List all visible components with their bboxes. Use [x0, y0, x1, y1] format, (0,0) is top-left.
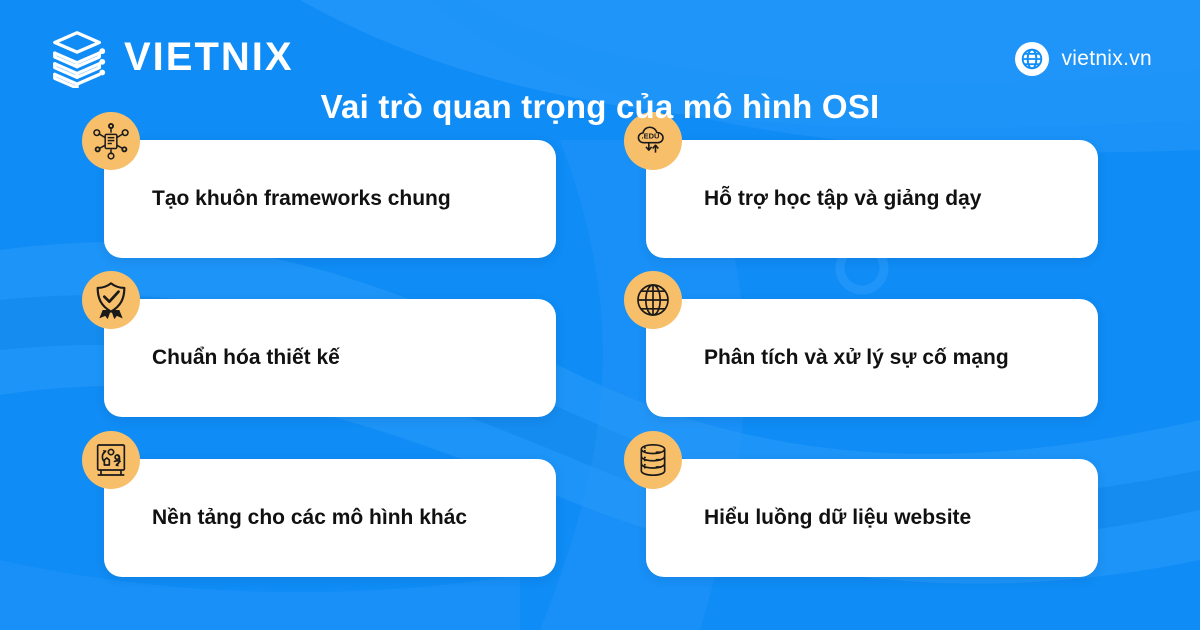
card-education[interactable]: .EDU Hỗ trợ học tập và giảng dạy: [646, 140, 1098, 258]
brand-name: VIETNIX: [124, 37, 294, 77]
board-cycle-icon: [82, 431, 140, 489]
benefit-cards-grid: Tạo khuôn frameworks chung .EDU Hỗ trợ h…: [0, 140, 1200, 590]
database-icon: [624, 431, 682, 489]
card-label: Tạo khuôn frameworks chung: [104, 186, 473, 212]
card-label: Hiểu luồng dữ liệu website: [646, 505, 993, 531]
card-label: Chuẩn hóa thiết kế: [104, 345, 362, 371]
card-troubleshoot[interactable]: Phân tích và xử lý sự cố mạng: [646, 299, 1098, 417]
globe-grid-icon: [624, 271, 682, 329]
card-label: Phân tích và xử lý sự cố mạng: [646, 345, 1031, 371]
card-dataflow[interactable]: Hiểu luồng dữ liệu website: [646, 459, 1098, 577]
page-title: Vai trò quan trọng của mô hình OSI: [0, 88, 1200, 126]
shield-check-badge-icon: [82, 271, 140, 329]
card-standardize[interactable]: Chuẩn hóa thiết kế: [104, 299, 556, 417]
card-foundation[interactable]: Nền tảng cho các mô hình khác: [104, 459, 556, 577]
stacked-layers-icon: [48, 26, 110, 88]
infographic-poster: VIETNIX vietnix.vn Vai trò quan trọng củ…: [0, 0, 1200, 630]
card-label: Hỗ trợ học tập và giảng dạy: [646, 186, 1003, 212]
card-frameworks[interactable]: Tạo khuôn frameworks chung: [104, 140, 556, 258]
site-url-text: vietnix.vn: [1061, 47, 1152, 71]
card-label: Nền tảng cho các mô hình khác: [104, 505, 489, 531]
svg-text:.EDU: .EDU: [642, 132, 660, 141]
globe-icon: [1015, 42, 1049, 76]
brand-logo-group[interactable]: VIETNIX: [48, 26, 294, 88]
site-url-badge[interactable]: vietnix.vn: [1015, 42, 1152, 76]
